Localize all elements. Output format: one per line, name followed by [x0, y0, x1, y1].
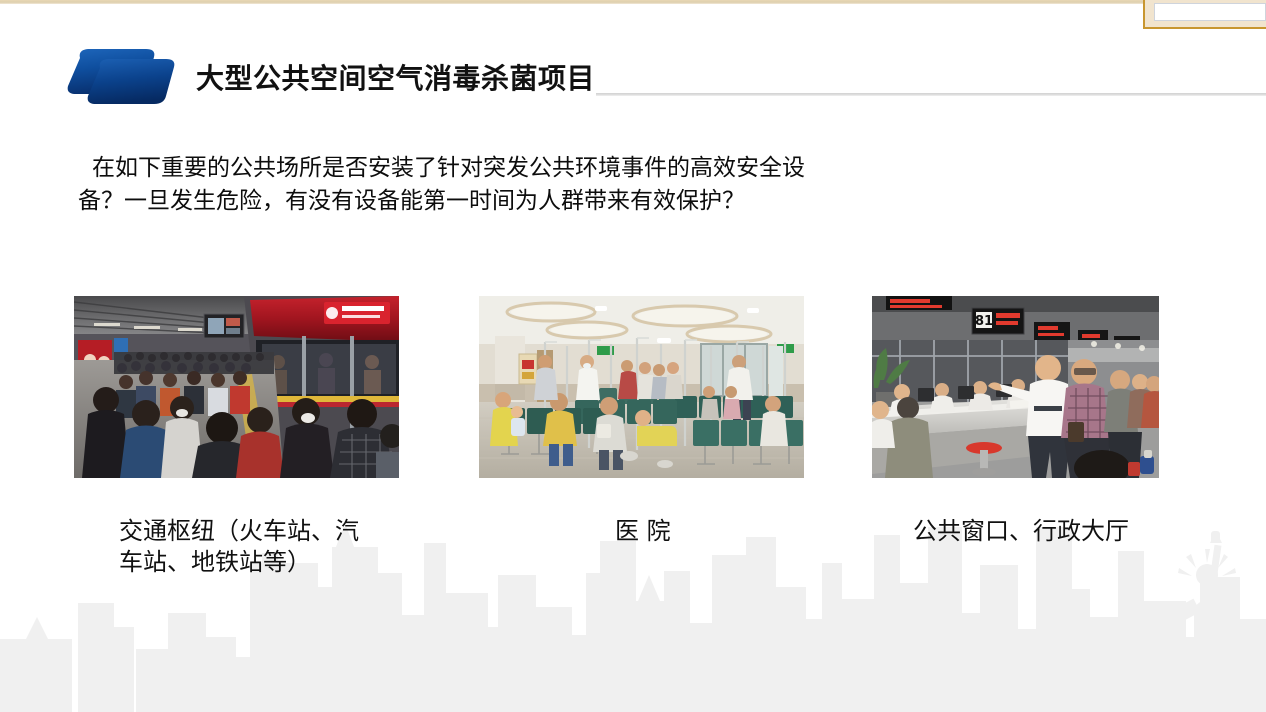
corner-frame-inner [1154, 3, 1266, 21]
photo-transport-hub-image [74, 296, 399, 478]
photo-public-service-hall: 81 [872, 296, 1159, 478]
photo-hospital-image [479, 296, 804, 478]
caption-transport-hub: 交通枢纽（火车站、汽车站、地铁站等） [119, 516, 379, 578]
logo-shape-icon [66, 46, 182, 108]
slide-header: 大型公共空间空气消毒杀菌项目 [66, 46, 595, 108]
caption-public-service-hall: 公共窗口、行政大厅 [913, 516, 1213, 547]
photo-public-service-hall-image: 81 [872, 296, 1159, 478]
title-divider-rule [596, 93, 1266, 96]
slide-canvas: 大型公共空间空气消毒杀菌项目 在如下重要的公共场所是否安装了针对突发公共环境事件… [0, 0, 1266, 712]
double-parallelogram-logo-icon [66, 46, 182, 108]
photo-hospital [479, 296, 804, 478]
photo-row: 81 [0, 296, 1266, 478]
page-title: 大型公共空间空气消毒杀菌项目 [196, 57, 595, 97]
photo-transport-hub [74, 296, 399, 478]
corner-frame-decoration [1143, 0, 1266, 29]
body-paragraph: 在如下重要的公共场所是否安装了针对突发公共环境事件的高效安全设备？一旦发生危险，… [78, 152, 808, 217]
top-accent-rule [0, 0, 1266, 4]
caption-hospital: 医 院 [615, 516, 875, 547]
svg-text:81: 81 [975, 314, 993, 329]
